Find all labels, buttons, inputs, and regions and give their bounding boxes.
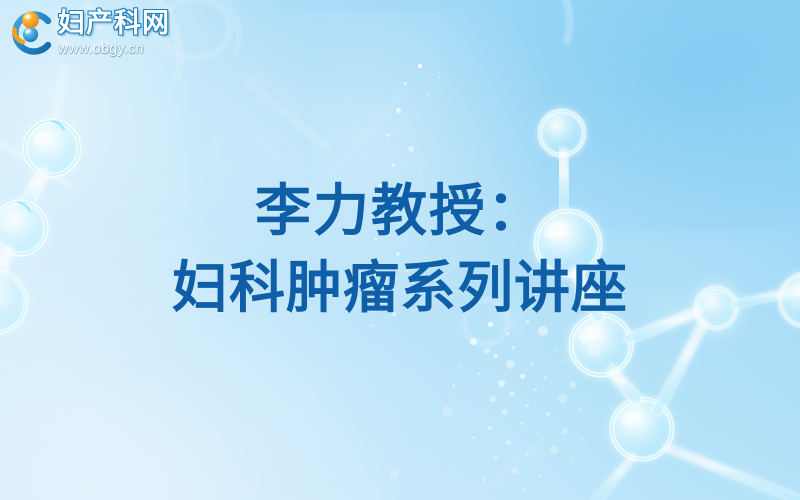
- background-wash-bottom-left: [0, 230, 400, 500]
- page-title: 李力教授： 妇科肿瘤系列讲座: [0, 172, 800, 327]
- title-line-2: 妇科肿瘤系列讲座: [0, 249, 800, 326]
- title-line-1: 李力教授：: [0, 172, 800, 249]
- background-wash-top-left: [0, 0, 310, 380]
- site-logo[interactable]: 妇产科网 www.obgy.cn: [8, 9, 170, 55]
- background-wash-bottom-right: [450, 230, 800, 500]
- particle-field-bottom: [330, 318, 630, 500]
- background-wash-top-right: [440, 0, 800, 240]
- molecular-structure-decoration: [0, 0, 800, 500]
- background-wash-center: [210, 10, 540, 310]
- particle-field-center: [300, 60, 470, 330]
- obgy-circle-logo-icon: [8, 9, 54, 55]
- slide-canvas: 妇产科网 www.obgy.cn 李力教授： 妇科肿瘤系列讲座: [0, 0, 800, 500]
- site-name: 妇产科网: [58, 10, 170, 37]
- site-url: www.obgy.cn: [58, 41, 170, 55]
